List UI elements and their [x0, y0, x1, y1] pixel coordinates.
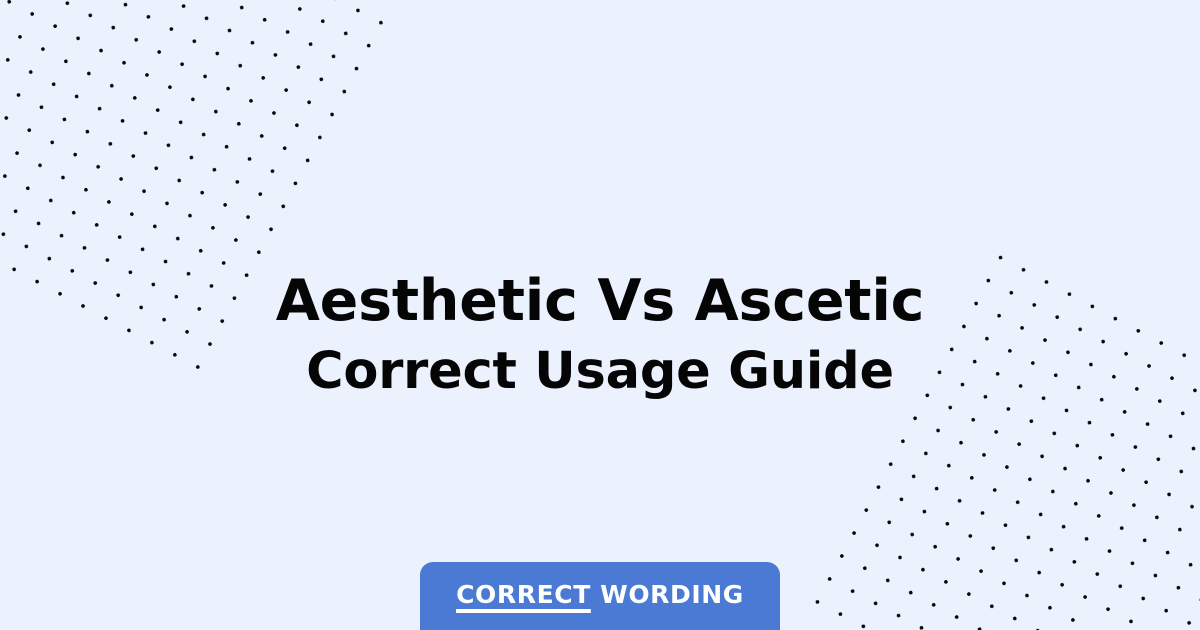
brand-button-label-primary: CORRECT [456, 580, 591, 609]
share-card: Aesthetic Vs Ascetic Correct Usage Guide… [0, 0, 1200, 630]
title-line-secondary: Correct Usage Guide [80, 341, 1120, 402]
page-title: Aesthetic Vs Ascetic Correct Usage Guide [0, 268, 1200, 402]
brand-button-label: CORRECT WORDING [456, 580, 744, 609]
brand-button[interactable]: CORRECT WORDING [420, 562, 780, 630]
title-line-primary: Aesthetic Vs Ascetic [80, 268, 1120, 335]
brand-button-label-secondary: WORDING [591, 580, 744, 609]
